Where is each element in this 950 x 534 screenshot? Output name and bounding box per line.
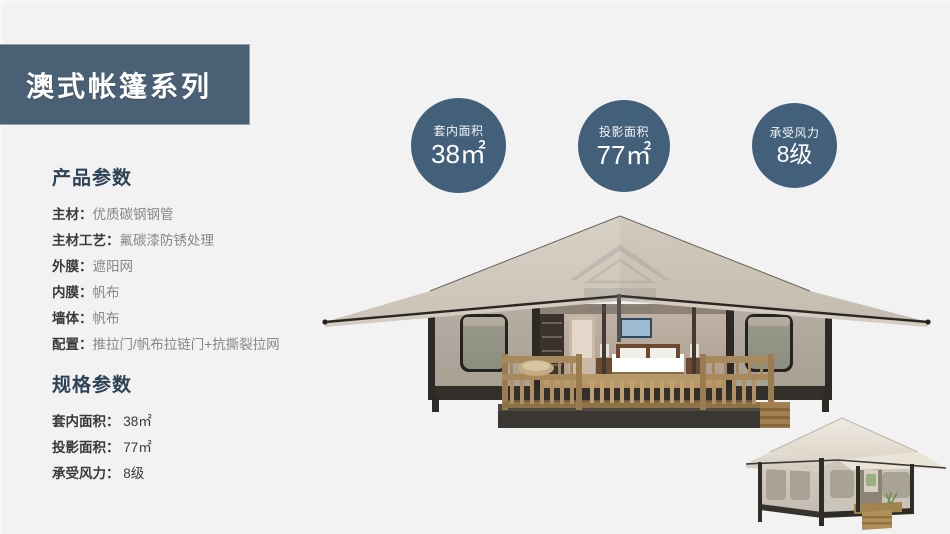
spec-label: 投影面积： [52,440,120,455]
secondary-tent-illustration [742,412,950,534]
param-label: 配置： [52,337,93,352]
param-value: 氟碳漆防锈处理 [120,233,215,248]
spec-parameters-section: 规格参数 套内面积： 38㎡ 投影面积： 77㎡ 承受风力： 8级 [52,370,352,487]
product-parameters-heading: 产品参数 [52,163,352,190]
param-value: 帆布 [93,285,120,300]
spec-parameters-heading: 规格参数 [52,370,352,397]
param-value: 推拉门/帆布拉链门+抗撕裂拉网 [93,337,280,352]
stat-badge-label: 投影面积 [599,123,649,140]
stat-badge-label: 承受风力 [769,124,819,141]
stat-badge-projected-area: 投影面积 77㎡ [578,100,670,192]
param-label: 墙体： [52,311,93,326]
page-title: 澳式帐篷系列 [26,65,212,105]
stat-badge-wind-resistance: 承受风力 8级 [752,103,837,188]
param-label: 主材工艺： [52,233,120,248]
spec-value: 38㎡ [123,414,152,429]
param-value: 帆布 [93,311,120,326]
deck-base [498,410,760,428]
stat-badge-interior-area: 套内面积 38㎡ [411,98,506,193]
param-label: 外膜： [52,259,93,274]
param-label: 内膜： [52,285,93,300]
spec-row: 投影面积： 77㎡ [52,435,352,461]
param-label: 主材： [52,207,93,222]
spec-label: 套内面积： [52,414,120,429]
param-row: 主材工艺：氟碳漆防锈处理 [52,228,352,254]
param-row: 配置：推拉门/帆布拉链门+抗撕裂拉网 [52,332,352,358]
param-row: 主材：优质碳钢钢管 [52,202,352,228]
spec-label: 承受风力： [52,466,120,481]
spec-value: 8级 [123,466,144,481]
param-row: 内膜：帆布 [52,280,352,306]
spec-value: 77㎡ [123,440,152,455]
title-banner: 澳式帐篷系列 [0,44,250,125]
stat-badge-value: 38㎡ [431,140,486,169]
page-edge-top [0,0,950,3]
param-row: 外膜：遮阳网 [52,254,352,280]
spec-row: 套内面积： 38㎡ [52,409,352,435]
spec-row: 承受风力： 8级 [52,461,352,487]
slide-canvas: 澳式帐篷系列 产品参数 主材：优质碳钢钢管 主材工艺：氟碳漆防锈处理 外膜：遮阳… [0,0,950,534]
secondary-roof-top [770,418,918,460]
product-parameters-section: 产品参数 主材：优质碳钢钢管 主材工艺：氟碳漆防锈处理 外膜：遮阳网 内膜：帆布… [52,163,352,358]
stat-badge-value: 77㎡ [597,141,652,170]
secondary-tent-image [742,412,950,534]
stat-badge-value: 8级 [777,142,813,167]
param-value: 优质碳钢钢管 [93,207,174,222]
tent-window [460,314,508,372]
param-value: 遮阳网 [93,259,134,274]
param-row: 墙体：帆布 [52,306,352,332]
stat-badge-label: 套内面积 [433,122,483,139]
